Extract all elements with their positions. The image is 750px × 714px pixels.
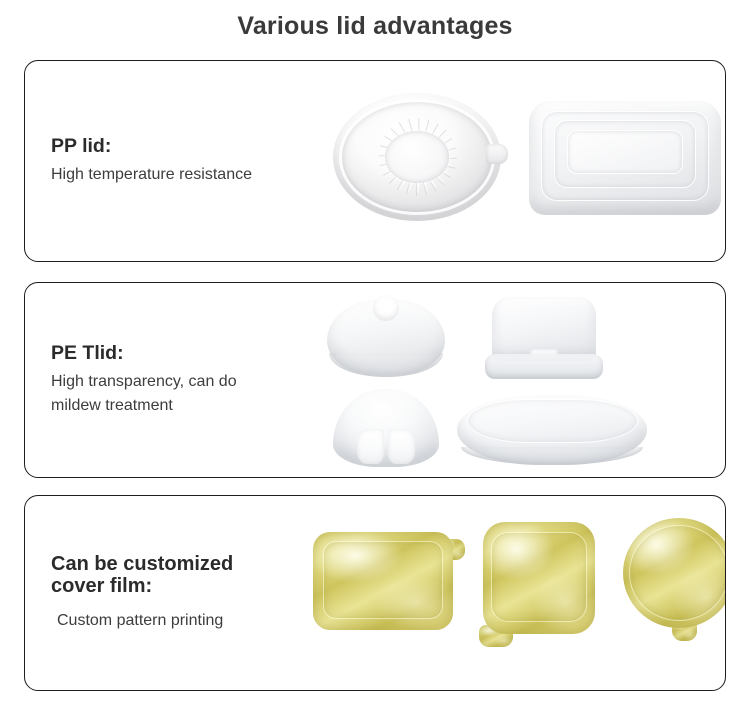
foil-inner-ring bbox=[491, 532, 587, 622]
lid-dome bbox=[333, 389, 439, 467]
lid-ridge-inner bbox=[567, 130, 682, 174]
lid-flange bbox=[485, 354, 603, 379]
square-dome-pe-lid-image bbox=[485, 297, 603, 379]
rectangular-pp-lid-image bbox=[529, 101, 721, 215]
card-cover-film-subtitle: Custom pattern printing bbox=[51, 609, 301, 633]
page-title: Various lid advantages bbox=[0, 12, 750, 41]
card-cover-film-heading: Can be customized cover film: bbox=[51, 553, 301, 598]
card-pp-lid-heading: PP lid: bbox=[51, 135, 301, 158]
card-pp-lid-media bbox=[307, 61, 725, 261]
card-cover-film: Can be customized cover film: Custom pat… bbox=[24, 495, 726, 691]
card-pp-lid-text: PP lid: High temperature resistance bbox=[51, 135, 301, 187]
card-pe-tlid-subtitle: High transparency, can do mildew treatme… bbox=[51, 370, 301, 418]
foil-inner-ring bbox=[323, 541, 443, 619]
card-pe-tlid: PE Tlid: High transparency, can do milde… bbox=[24, 282, 726, 478]
card-pe-tlid-text: PE Tlid: High transparency, can do milde… bbox=[51, 342, 301, 418]
card-cover-film-media bbox=[307, 496, 725, 690]
round-dome-pe-lid-image bbox=[333, 389, 439, 467]
card-pe-tlid-heading: PE Tlid: bbox=[51, 342, 301, 365]
round-ribbed-pp-lid-image bbox=[333, 93, 501, 221]
card-pp-lid-subtitle: High temperature resistance bbox=[51, 163, 301, 187]
lid-center-hub bbox=[385, 131, 449, 182]
foil-plate bbox=[623, 518, 726, 628]
oval-flat-pe-lid-image bbox=[457, 395, 647, 465]
gold-rectangular-foil-lid-image bbox=[313, 532, 453, 630]
gold-square-foil-lid-image bbox=[483, 522, 595, 634]
gold-round-foil-lid-image bbox=[623, 518, 726, 628]
heart-shaped-pe-lid-image bbox=[327, 299, 445, 375]
foil-inner-ring bbox=[629, 525, 726, 622]
lid-facet-right bbox=[388, 429, 415, 464]
lid-facet-left bbox=[357, 429, 384, 464]
foil-plate bbox=[483, 522, 595, 634]
lid-heart-cleft bbox=[373, 295, 399, 321]
lid-top-ridge bbox=[467, 399, 638, 443]
card-pe-tlid-media bbox=[307, 283, 725, 477]
card-cover-film-text: Can be customized cover film: Custom pat… bbox=[51, 553, 301, 633]
lid-skirt bbox=[329, 353, 442, 377]
lid-base-rim bbox=[461, 447, 643, 465]
lid-pull-tab bbox=[486, 144, 508, 164]
card-pp-lid: PP lid: High temperature resistance bbox=[24, 60, 726, 262]
foil-plate bbox=[313, 532, 453, 630]
